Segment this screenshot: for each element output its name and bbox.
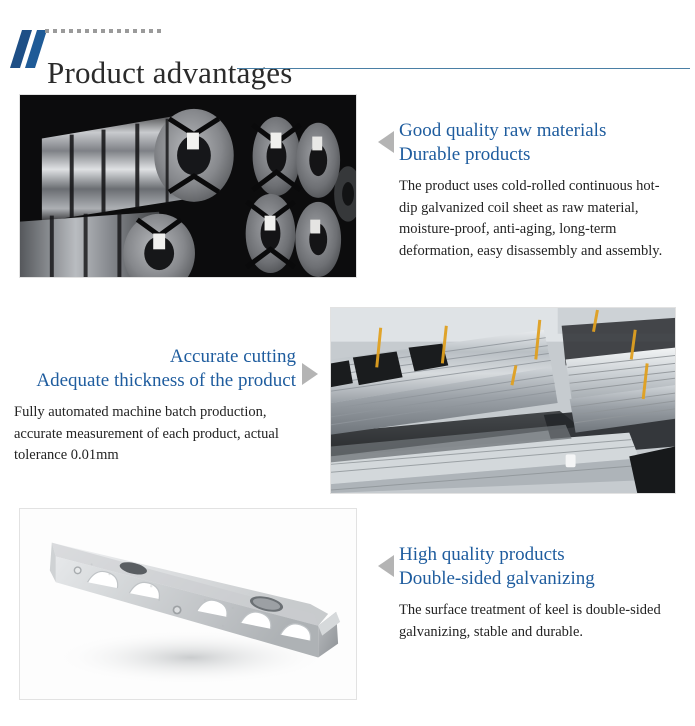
advantage-heading-line1: High quality products <box>399 543 677 567</box>
advantage-heading-line2: Adequate thickness of the product <box>14 369 296 393</box>
advantage-heading: Good quality raw materials Durable produ… <box>399 119 677 167</box>
advantage-body: The product uses cold-rolled continuous … <box>399 176 677 262</box>
advantage-heading-line1: Good quality raw materials <box>399 119 677 143</box>
advantage-copy-double-sided-galvanizing: High quality products Double-sided galva… <box>399 543 677 658</box>
steel-coils-photo <box>19 94 357 278</box>
steel-keel-photo <box>19 508 357 700</box>
double-slash-icon <box>10 30 50 68</box>
advantage-body: Fully automated machine batch production… <box>14 402 296 467</box>
arrow-left-icon <box>378 555 394 577</box>
advantage-heading-line2: Double-sided galvanizing <box>399 567 677 591</box>
advantage-heading: High quality products Double-sided galva… <box>399 543 677 591</box>
advantage-heading: Accurate cutting Adequate thickness of t… <box>14 345 296 393</box>
header-divider <box>237 68 690 69</box>
page-header: Product advantages <box>0 0 695 86</box>
arrow-left-icon <box>378 131 394 153</box>
header-dot-decoration <box>45 29 161 33</box>
advantage-body: The surface treatment of keel is double-… <box>399 600 677 643</box>
steel-tubes-photo <box>330 307 676 494</box>
advantage-copy-raw-materials: Good quality raw materials Durable produ… <box>399 119 677 277</box>
arrow-right-icon <box>302 363 318 385</box>
advantage-heading-line1: Accurate cutting <box>14 345 296 369</box>
advantage-copy-accurate-cutting: Accurate cutting Adequate thickness of t… <box>14 345 296 481</box>
page-title: Product advantages <box>47 55 293 91</box>
advantage-heading-line2: Durable products <box>399 143 677 167</box>
